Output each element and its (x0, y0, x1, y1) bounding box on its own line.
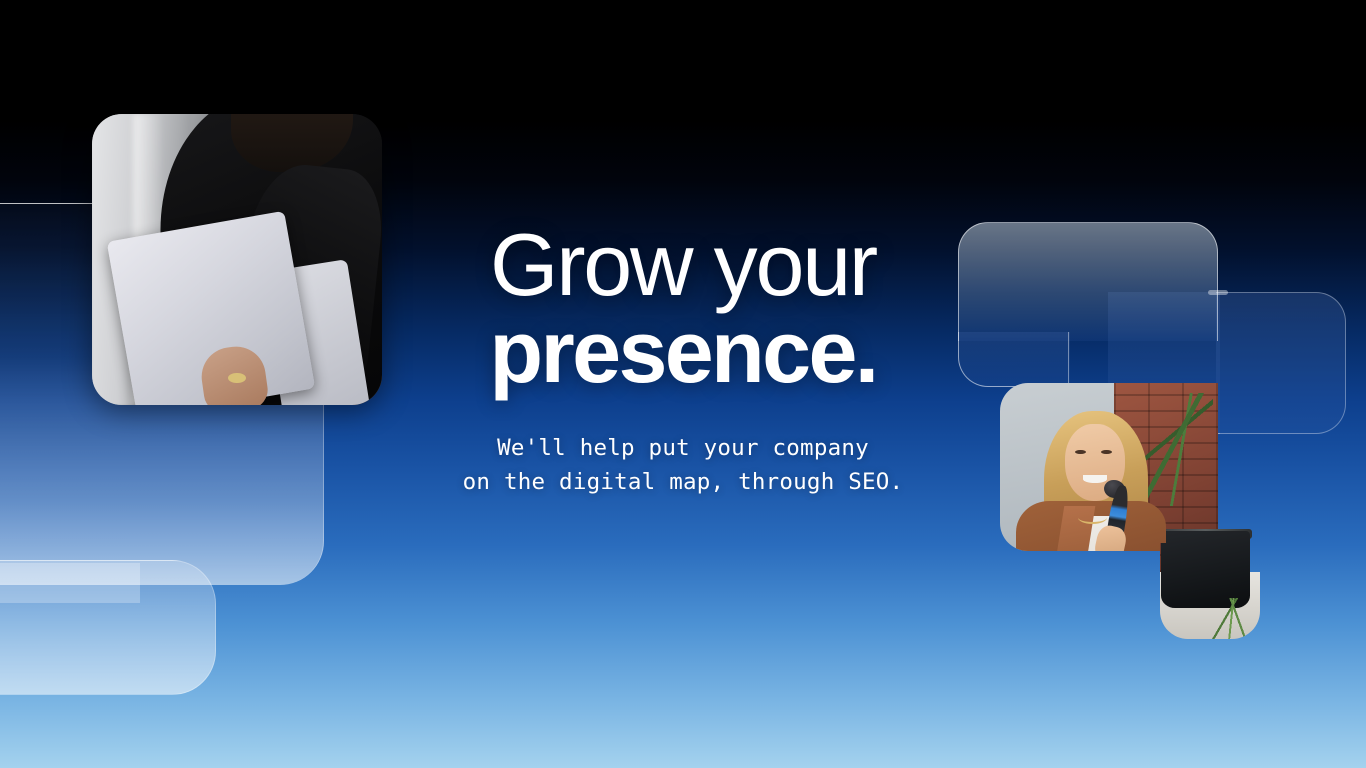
photo-right-segment-bottom (1160, 543, 1260, 639)
hero-subtitle: We'll help put your company on the digit… (463, 431, 904, 499)
page-title: Grow your presence. (489, 222, 876, 395)
photo-left-image (92, 114, 382, 405)
hero-section: Grow your presence. We'll help put your … (0, 0, 1366, 768)
photo-card-right (1000, 383, 1260, 639)
subtitle-line-2: on the digital map, through SEO. (463, 465, 904, 499)
decor-glass-link (1208, 290, 1228, 295)
photo-right-segment-top (1000, 383, 1180, 551)
decor-glass-upper-left (958, 222, 1218, 341)
decor-glass-lower-left (958, 332, 1070, 387)
decor-shape-bl-lower (0, 560, 216, 695)
subtitle-line-1: We'll help put your company (463, 431, 904, 465)
headline-line-1: Grow your (489, 222, 876, 307)
headline-line-2: presence. (489, 309, 876, 394)
photo-card-left (92, 114, 382, 405)
photo-right-segment-mid (1160, 383, 1260, 551)
